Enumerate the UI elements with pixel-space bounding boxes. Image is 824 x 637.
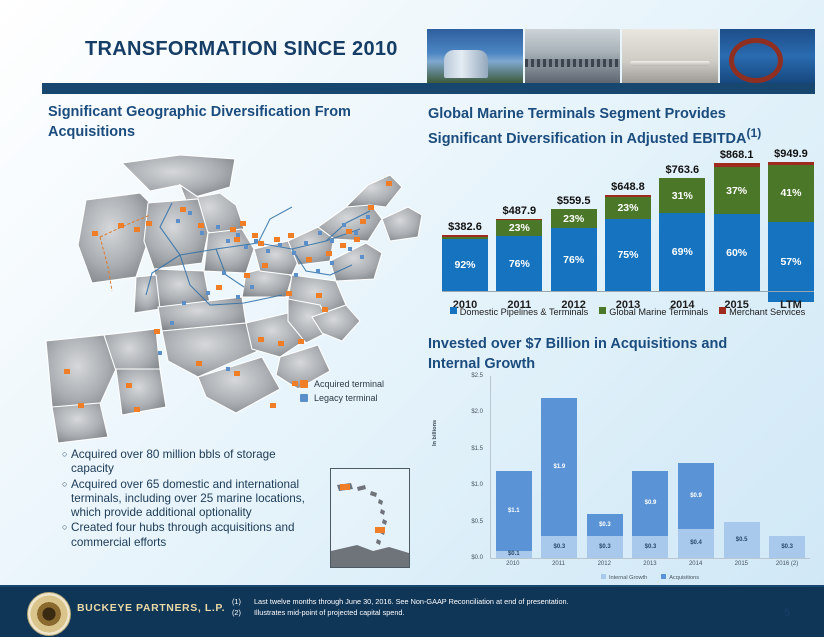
legend-swatch-icon <box>450 307 457 314</box>
capital-bar-segment: $0.3 <box>541 536 577 558</box>
capital-x-tick: 2011 <box>541 561 577 567</box>
capital-bar-segment: $0.3 <box>632 536 668 558</box>
footnote-text: Illustrates mid-point of projected capit… <box>254 607 404 618</box>
ebitda-legend-label: Domestic Pipelines & Terminals <box>460 307 589 317</box>
capital-spend-bar-chart: In billions $2.5$2.0$1.5$1.0$0.5$0.0 $1.… <box>434 376 814 576</box>
legend-swatch-icon <box>599 307 606 314</box>
ebitda-legend-label: Global Marine Terminals <box>609 307 708 317</box>
capital-x-tick: 2013 <box>632 561 668 567</box>
ebitda-bar-segment: 31% <box>659 178 705 213</box>
capital-bar-column: $0.3 <box>769 376 805 558</box>
page-number: 5 <box>784 607 790 619</box>
caribbean-inset-map <box>330 468 410 568</box>
ebitda-bar-column: $949.941%57% <box>768 148 814 291</box>
ebitda-bar-column: $763.631%69% <box>659 148 705 291</box>
footnote-row: (1)Last twelve months through June 30, 2… <box>232 596 569 607</box>
ebitda-chart-title-line1: Global Marine Terminals Segment Provides <box>428 105 808 125</box>
map-legend-item-acquired: Acquired terminal <box>300 379 384 389</box>
ebitda-plot-area: $382.692%$487.923%76%$559.523%76%$648.82… <box>442 148 814 291</box>
capital-bar-segment: $1.9 <box>541 398 577 536</box>
ebitda-bar-segment: 92% <box>442 239 488 291</box>
capital-y-tick: $0.0 <box>471 555 483 561</box>
ebitda-bar-stack: 37%60% <box>714 163 760 291</box>
footnote-ref-1: (1) <box>747 126 762 140</box>
footnotes: (1)Last twelve months through June 30, 2… <box>232 596 569 619</box>
storage-tanks-photo <box>427 29 523 83</box>
caribbean-inset-svg <box>331 469 409 567</box>
capital-bar-segment: $0.1 <box>496 551 532 558</box>
capital-y-tick: $1.0 <box>471 482 483 488</box>
legend-swatch-icon <box>719 307 726 314</box>
ebitda-bar-segment: 23% <box>551 209 597 228</box>
footnote-number: (1) <box>232 596 254 607</box>
capital-legend-label: Internal Growth <box>609 575 647 581</box>
ebitda-total-label: $559.5 <box>557 195 591 207</box>
ebitda-bar-segment: 69% <box>659 213 705 291</box>
map-legend: Acquired terminal Legacy terminal <box>300 379 384 407</box>
bullet-text: Created four hubs through acquisitions a… <box>71 521 320 550</box>
left-panel-heading: Significant Geographic Diversification F… <box>48 103 408 142</box>
capital-bar-segment: $0.3 <box>769 536 805 558</box>
left-panel-bullets: ○ Acquired over 80 million bbls of stora… <box>62 448 320 551</box>
capital-bar-segment: $0.9 <box>632 471 668 537</box>
capital-chart-title: Invested over $7 Billion in Acquisitions… <box>428 335 808 374</box>
ebitda-bar-segment: 60% <box>714 214 760 291</box>
capital-y-tick-labels: $2.5$2.0$1.5$1.0$0.5$0.0 <box>456 376 486 558</box>
ebitda-legend-item: Domestic Pipelines & Terminals <box>450 307 589 317</box>
capital-legend-item: Internal Growth <box>601 574 647 581</box>
list-item: ○ Acquired over 80 million bbls of stora… <box>62 448 320 477</box>
capital-y-axis-label: In billions <box>432 420 438 446</box>
ebitda-total-label: $868.1 <box>720 149 754 161</box>
slide-title: TRANSFORMATION SINCE 2010 <box>85 38 398 61</box>
header-divider-bar <box>42 83 815 94</box>
slide-root: TRANSFORMATION SINCE 2010 Significant Ge… <box>0 0 824 637</box>
capital-bar-segment: $0.5 <box>724 522 760 558</box>
ebitda-bar-column: $487.923%76% <box>496 148 542 291</box>
brand-name: BUCKEYE PARTNERS, L.P. <box>77 602 225 614</box>
capital-bar-column: $1.1$0.1 <box>496 376 532 558</box>
ebitda-bar-segment: 41% <box>768 165 814 222</box>
ebitda-bar-segment: 76% <box>496 236 542 291</box>
footnote-number: (2) <box>232 607 254 618</box>
ebitda-bar-segment: 75% <box>605 219 651 291</box>
capital-bar-segment: $0.3 <box>587 536 623 558</box>
ebitda-bar-segment: 23% <box>605 197 651 219</box>
legacy-terminal-swatch-icon <box>300 394 308 402</box>
acquired-terminal-label: Acquired terminal <box>314 379 384 389</box>
ebitda-legend-label: Merchant Services <box>729 307 805 317</box>
valve-worker-photo <box>720 29 816 83</box>
buckeye-logo-icon <box>27 592 71 636</box>
legacy-terminal-label: Legacy terminal <box>314 393 378 403</box>
ebitda-bar-stack: 23%76% <box>496 219 542 291</box>
capital-x-tick-labels: 2010201120122013201420152016 (2) <box>490 561 810 567</box>
ebitda-stacked-bar-chart: $382.692%$487.923%76%$559.523%76%$648.82… <box>436 148 814 323</box>
map-legend-item-legacy: Legacy terminal <box>300 393 384 403</box>
capital-bar-segment: $0.3 <box>587 514 623 536</box>
ebitda-legend: Domestic Pipelines & TerminalsGlobal Mar… <box>440 307 815 317</box>
ebitda-x-axis <box>442 291 814 292</box>
terminal-interior-photo <box>622 29 718 83</box>
ebitda-bar-column: $648.823%75% <box>605 148 651 291</box>
ebitda-bar-stack: 31%69% <box>659 178 705 291</box>
ebitda-bar-column: $559.523%76% <box>551 148 597 291</box>
capital-plot-area: $1.1$0.1$1.9$0.3$0.3$0.3$0.9$0.3$0.9$0.4… <box>490 376 810 558</box>
ebitda-chart-title: Global Marine Terminals Segment Provides… <box>428 105 808 149</box>
ebitda-total-label: $487.9 <box>503 205 537 217</box>
capital-bar-column: $0.3$0.3 <box>587 376 623 558</box>
capital-bar-segment: $1.1 <box>496 471 532 551</box>
ebitda-bar-stack: 41%57% <box>768 162 814 302</box>
ebitda-total-label: $949.9 <box>774 148 808 160</box>
header-photo-strip <box>427 29 815 83</box>
bullet-marker-icon: ○ <box>62 521 71 550</box>
capital-legend-label: Acquisitions <box>669 575 699 581</box>
acquired-terminal-swatch-icon <box>300 380 308 388</box>
legend-swatch-icon <box>661 574 666 579</box>
ebitda-bar-segment: 23% <box>496 220 542 237</box>
capital-bar-segment: $0.9 <box>678 463 714 529</box>
capital-x-tick: 2016 (2) <box>769 561 805 567</box>
bullet-text: Acquired over 65 domestic and internatio… <box>71 478 320 521</box>
ebitda-bar-segment: 37% <box>714 167 760 214</box>
ebitda-bar-segment: 57% <box>768 222 814 302</box>
capital-bar-column: $1.9$0.3 <box>541 376 577 558</box>
ebitda-bar-stack: 23%75% <box>605 195 651 291</box>
ebitda-bar-column: $382.692% <box>442 148 488 291</box>
capital-y-tick: $2.5 <box>471 373 483 379</box>
footnote-row: (2)Illustrates mid-point of projected ca… <box>232 607 569 618</box>
capital-bar-segment: $0.4 <box>678 529 714 558</box>
capital-x-tick: 2014 <box>678 561 714 567</box>
capital-x-tick: 2012 <box>586 561 622 567</box>
ebitda-legend-item: Merchant Services <box>719 307 805 317</box>
capital-bar-column: $0.5 <box>724 376 760 558</box>
footnote-text: Last twelve months through June 30, 2016… <box>254 596 569 607</box>
ebitda-bar-segment: 76% <box>551 228 597 291</box>
capital-bar-column: $0.9$0.4 <box>678 376 714 558</box>
capital-legend: Internal GrowthAcquisitions <box>490 574 810 581</box>
ebitda-total-label: $648.8 <box>611 181 645 193</box>
ebitda-bar-stack: 92% <box>442 235 488 291</box>
ebitda-total-label: $382.6 <box>448 221 482 233</box>
capital-x-tick: 2010 <box>495 561 531 567</box>
ebitda-legend-item: Global Marine Terminals <box>599 307 708 317</box>
capital-legend-item: Acquisitions <box>661 574 699 581</box>
legend-swatch-icon <box>601 574 606 579</box>
bullet-marker-icon: ○ <box>62 478 71 521</box>
capital-x-tick: 2015 <box>723 561 759 567</box>
left-panel-heading-line2: Acquisitions <box>48 123 408 143</box>
list-item: ○ Created four hubs through acquisitions… <box>62 521 320 550</box>
ebitda-bar-column: $868.137%60% <box>714 148 760 291</box>
capital-bar-column: $0.9$0.3 <box>632 376 668 558</box>
capital-chart-title-line1: Invested over $7 Billion in Acquisitions… <box>428 335 808 355</box>
left-panel-heading-line1: Significant Geographic Diversification F… <box>48 103 408 123</box>
list-item: ○ Acquired over 65 domestic and internat… <box>62 478 320 521</box>
bullet-marker-icon: ○ <box>62 448 71 477</box>
capital-x-axis <box>490 558 810 559</box>
capital-y-tick: $1.5 <box>471 446 483 452</box>
ebitda-bar-stack: 23%76% <box>551 209 597 291</box>
capital-chart-title-line2: Internal Growth <box>428 355 808 375</box>
capital-y-tick: $2.0 <box>471 409 483 415</box>
bullet-text: Acquired over 80 million bbls of storage… <box>71 448 320 477</box>
ebitda-total-label: $763.6 <box>665 164 699 176</box>
pipeline-manifold-photo <box>525 29 621 83</box>
capital-y-tick: $0.5 <box>471 519 483 525</box>
ebitda-chart-title-line2: Significant Diversification in Adjusted … <box>428 125 808 149</box>
